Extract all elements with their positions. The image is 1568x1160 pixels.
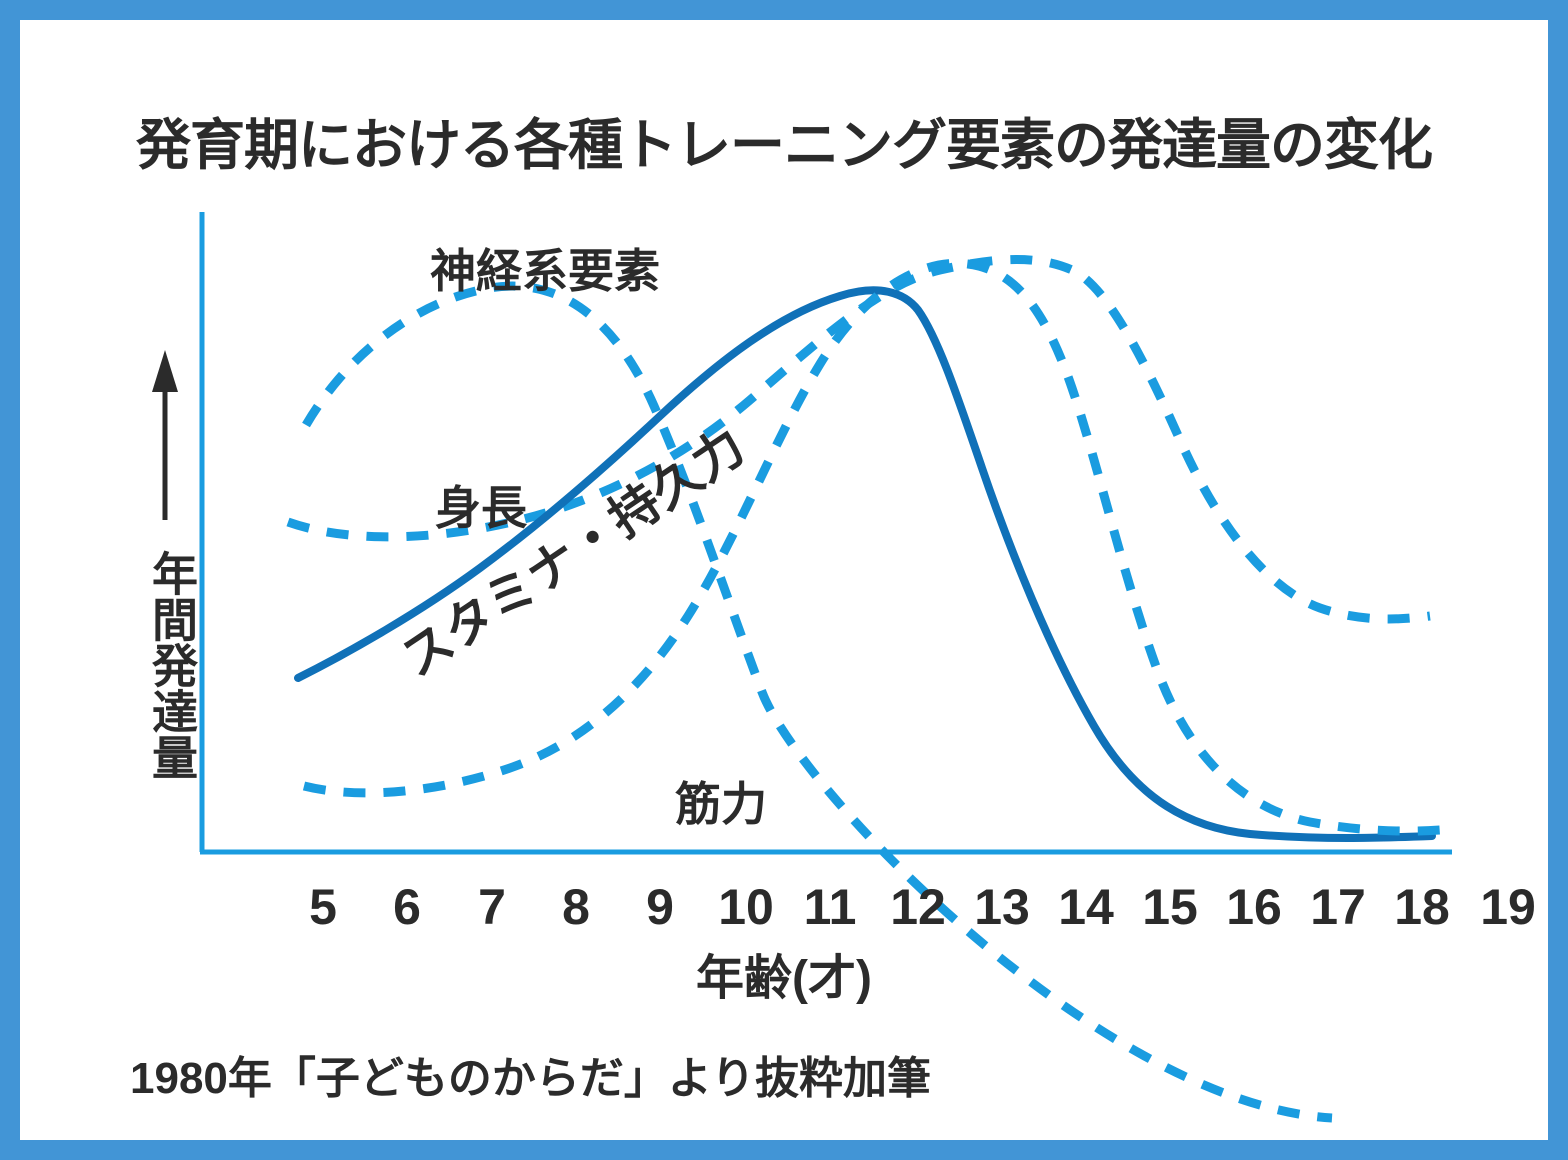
x-tick-16: 16: [1226, 878, 1282, 936]
curve-height: [288, 260, 1430, 619]
x-tick-6: 6: [393, 878, 421, 936]
x-tick-12: 12: [890, 878, 946, 936]
x-axis-tick-labels: 5 6 7 8 9 10 11 12 13 14 15 16 17 18 19: [220, 878, 1470, 938]
figure-frame: 発育期における各種トレーニング要素の発達量の変化 年間発達量 5 6 7 8 9…: [20, 20, 1548, 1140]
x-tick-13: 13: [974, 878, 1030, 936]
x-tick-17: 17: [1310, 878, 1366, 936]
x-axis-label: 年齢(才): [20, 938, 1548, 1008]
x-tick-15: 15: [1142, 878, 1198, 936]
x-tick-19: 19: [1480, 878, 1536, 936]
x-tick-10: 10: [718, 878, 774, 936]
curve-muscle: [304, 263, 1440, 831]
x-tick-5: 5: [309, 878, 337, 936]
x-tick-8: 8: [562, 878, 590, 936]
y-axis-arrow: [152, 350, 178, 520]
curve-label-muscle: 筋力: [675, 768, 767, 834]
x-tick-18: 18: [1394, 878, 1450, 936]
y-axis-label: 年間発達量: [125, 550, 195, 780]
x-tick-14: 14: [1058, 878, 1114, 936]
curve-label-height: 身長: [435, 472, 527, 538]
x-tick-11: 11: [804, 878, 857, 936]
x-tick-9: 9: [646, 878, 674, 936]
x-tick-7: 7: [478, 878, 506, 936]
curve-label-nerve: 神経系要素: [430, 235, 660, 301]
source-note: 1980年「子どものからだ」より抜粋加筆: [130, 1042, 931, 1106]
